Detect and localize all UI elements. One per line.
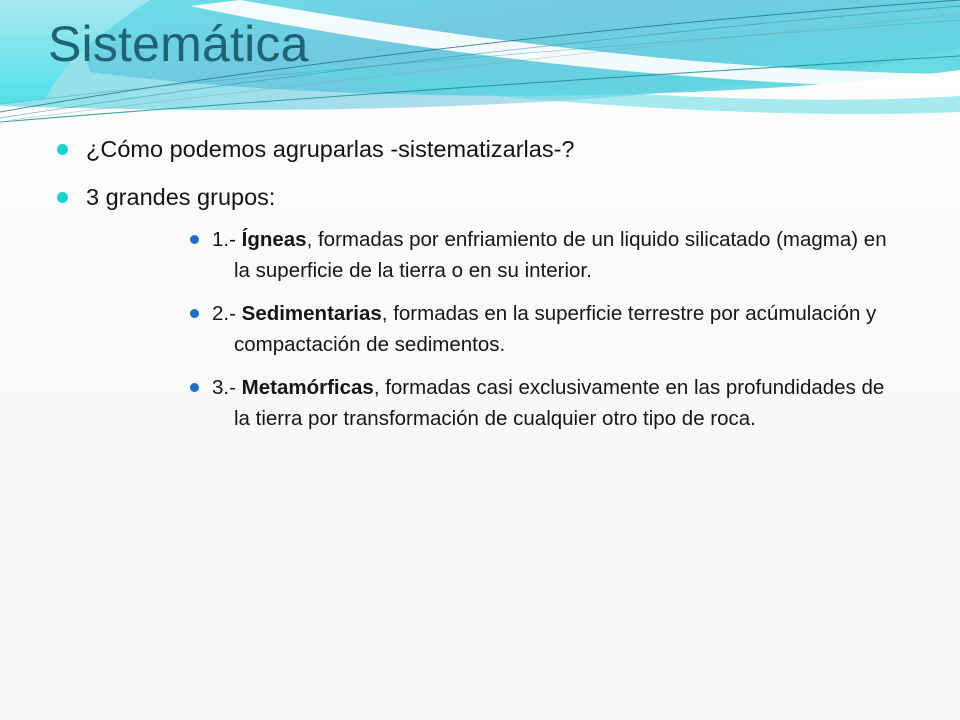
subbullet-content: 3.- Metamórficas, formadas casi exclusiv…	[212, 372, 890, 434]
subbullet-term: Ígneas	[242, 228, 307, 251]
subbullet-content: 1.- Ígneas, formadas por enfriamiento de…	[212, 224, 890, 286]
presentation-slide: Sistemática ¿Cómo podemos agruparlas -si…	[0, 0, 960, 720]
slide-body: ¿Cómo podemos agruparlas -sistematizarla…	[0, 128, 960, 446]
subbullet-number: 1.-	[212, 228, 236, 251]
subbullet-number: 2.-	[212, 302, 236, 325]
subbullet-term: Metamórficas	[242, 376, 374, 399]
subbullet-dot-icon	[190, 383, 199, 392]
bullet-list-level2: 1.- Ígneas, formadas por enfriamiento de…	[86, 224, 960, 434]
bullet-text: ¿Cómo podemos agruparlas -sistematizarla…	[86, 136, 574, 162]
subbullet-item-igneas[interactable]: 1.- Ígneas, formadas por enfriamiento de…	[86, 224, 960, 286]
bullet-list-level1: ¿Cómo podemos agruparlas -sistematizarla…	[0, 128, 960, 434]
subbullet-number: 3.-	[212, 376, 236, 399]
bullet-item-2[interactable]: 3 grandes grupos: 1.- Ígneas, formadas p…	[0, 176, 960, 434]
subbullet-term: Sedimentarias	[242, 302, 382, 325]
bullet-text: 3 grandes grupos:	[86, 184, 275, 210]
subbullet-content: 2.- Sedimentarias, formadas en la superf…	[212, 298, 890, 360]
bullet-item-1[interactable]: ¿Cómo podemos agruparlas -sistematizarla…	[0, 128, 960, 170]
bullet-dot-icon	[57, 144, 68, 155]
bullet-dot-icon	[57, 192, 68, 203]
subbullet-rest: , formadas por enfriamiento de un liquid…	[234, 228, 887, 282]
subbullet-dot-icon	[190, 235, 199, 244]
slide-title: Sistemática	[48, 12, 309, 76]
subbullet-dot-icon	[190, 309, 199, 318]
subbullet-item-sedimentarias[interactable]: 2.- Sedimentarias, formadas en la superf…	[86, 298, 960, 360]
subbullet-item-metamorficas[interactable]: 3.- Metamórficas, formadas casi exclusiv…	[86, 372, 960, 434]
